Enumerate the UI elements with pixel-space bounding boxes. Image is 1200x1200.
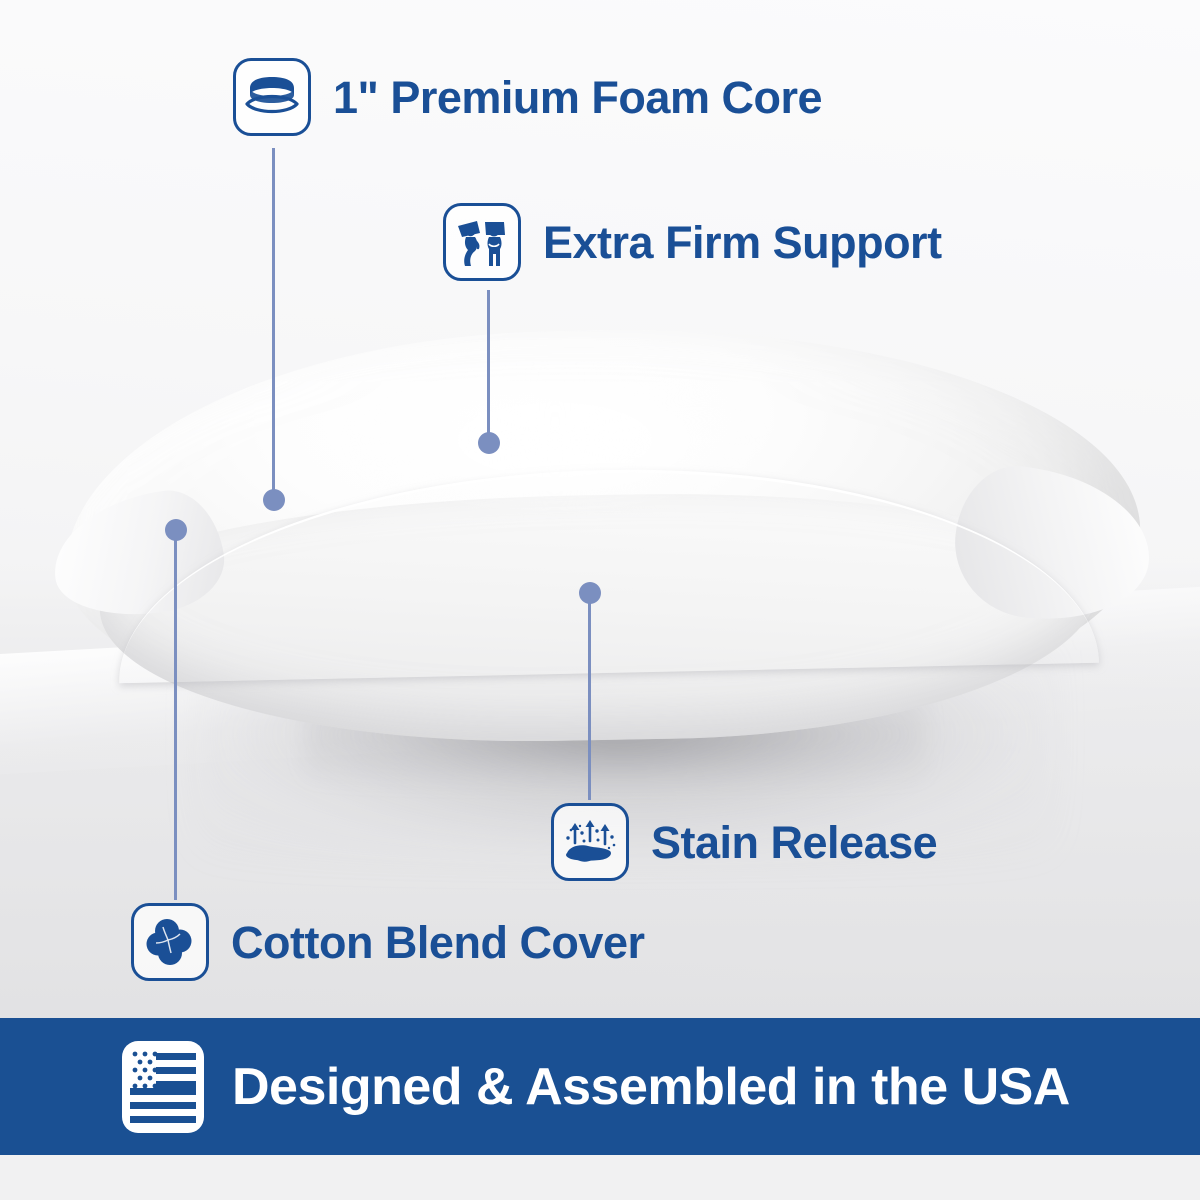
feature-label: Stain Release <box>651 820 937 865</box>
cotton-boll-icon <box>131 903 209 981</box>
feature-label: Extra Firm Support <box>543 220 942 265</box>
connector-line <box>588 593 591 800</box>
infographic-canvas: 1" Premium Foam Core Extra Firm Support <box>0 0 1200 1200</box>
connector-line <box>272 148 275 500</box>
connector-line <box>487 290 490 443</box>
feature-label: Cotton Blend Cover <box>231 920 645 965</box>
pillow-highlight <box>345 360 765 520</box>
pillow-cross-section-icon <box>233 58 311 136</box>
connector-endpoint-dot <box>263 489 285 511</box>
usa-flag-icon <box>122 1041 204 1133</box>
connector-line <box>174 530 177 900</box>
pillow-product-image <box>45 320 1155 760</box>
feature-firm-support[interactable]: Extra Firm Support <box>443 203 942 281</box>
connector-endpoint-dot <box>165 519 187 541</box>
usa-banner-label: Designed & Assembled in the USA <box>232 1061 1070 1113</box>
two-sleepers-pillow-icon <box>443 203 521 281</box>
stain-droplet-arrows-icon <box>551 803 629 881</box>
connector-endpoint-dot <box>579 582 601 604</box>
banner-under-strip <box>0 1155 1200 1200</box>
usa-banner: Designed & Assembled in the USA <box>0 1018 1200 1155</box>
connector-endpoint-dot <box>478 432 500 454</box>
feature-foam-core[interactable]: 1" Premium Foam Core <box>233 58 822 136</box>
feature-label: 1" Premium Foam Core <box>333 75 822 120</box>
feature-cotton-cover[interactable]: Cotton Blend Cover <box>131 903 645 981</box>
feature-stain-release[interactable]: Stain Release <box>551 803 937 881</box>
